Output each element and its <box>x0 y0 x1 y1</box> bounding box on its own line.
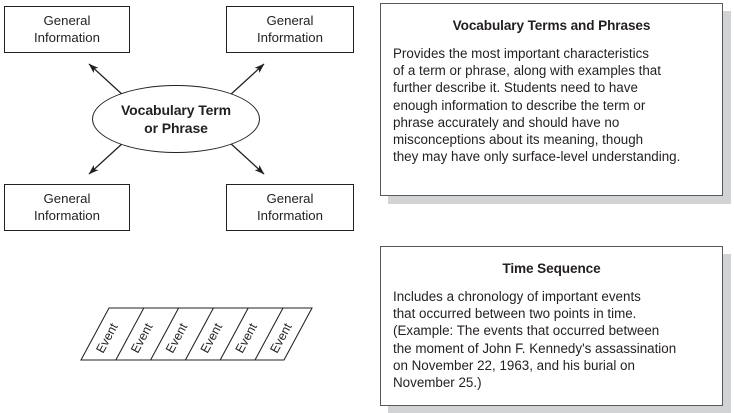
panel-body: Includes a chronology of important event… <box>381 288 722 391</box>
body-line: misconceptions about its meaning, though <box>393 131 710 148</box>
info-panel-time-sequence: Time Sequence Includes a chronology of i… <box>380 246 723 406</box>
arrow-top-right <box>229 64 264 96</box>
info-panel-vocabulary-terms: Vocabulary Terms and Phrases Provides th… <box>380 3 723 196</box>
arrow-bottom-right <box>229 142 264 174</box>
body-line: on November 22, 1963, and his burial on <box>393 357 710 374</box>
event-sequence-chain: Event Event Event Event Event Event <box>30 288 330 378</box>
body-line: phrase accurately and should have no <box>393 114 710 131</box>
vocabulary-term-ellipse[interactable]: Vocabulary Term or Phrase <box>92 85 260 153</box>
body-line: further describe it. Students need to ha… <box>393 79 710 96</box>
body-line: Provides the most important characterist… <box>393 45 710 62</box>
panel-title: Time Sequence <box>381 261 722 276</box>
vocabulary-term-diagram: General Information General Information … <box>0 0 367 413</box>
arrow-bottom-left <box>89 142 124 174</box>
body-line: that occurred between two points in time… <box>393 305 710 322</box>
arrow-top-left <box>89 64 124 96</box>
body-line: November 25.) <box>393 374 710 391</box>
body-line: Includes a chronology of important event… <box>393 288 710 305</box>
body-line: of a term or phrase, along with examples… <box>393 62 710 79</box>
panel-body: Provides the most important characterist… <box>381 45 722 165</box>
ellipse-line-2: or Phrase <box>144 119 208 137</box>
body-line: (Example: The events that occurred betwe… <box>393 322 710 339</box>
body-line: enough information to describe the term … <box>393 97 710 114</box>
panel-title: Vocabulary Terms and Phrases <box>381 18 722 33</box>
body-line: they may have only surface-level underst… <box>393 148 710 165</box>
ellipse-line-1: Vocabulary Term <box>121 101 231 119</box>
body-line: the moment of John F. Kennedy's assassin… <box>393 340 710 357</box>
